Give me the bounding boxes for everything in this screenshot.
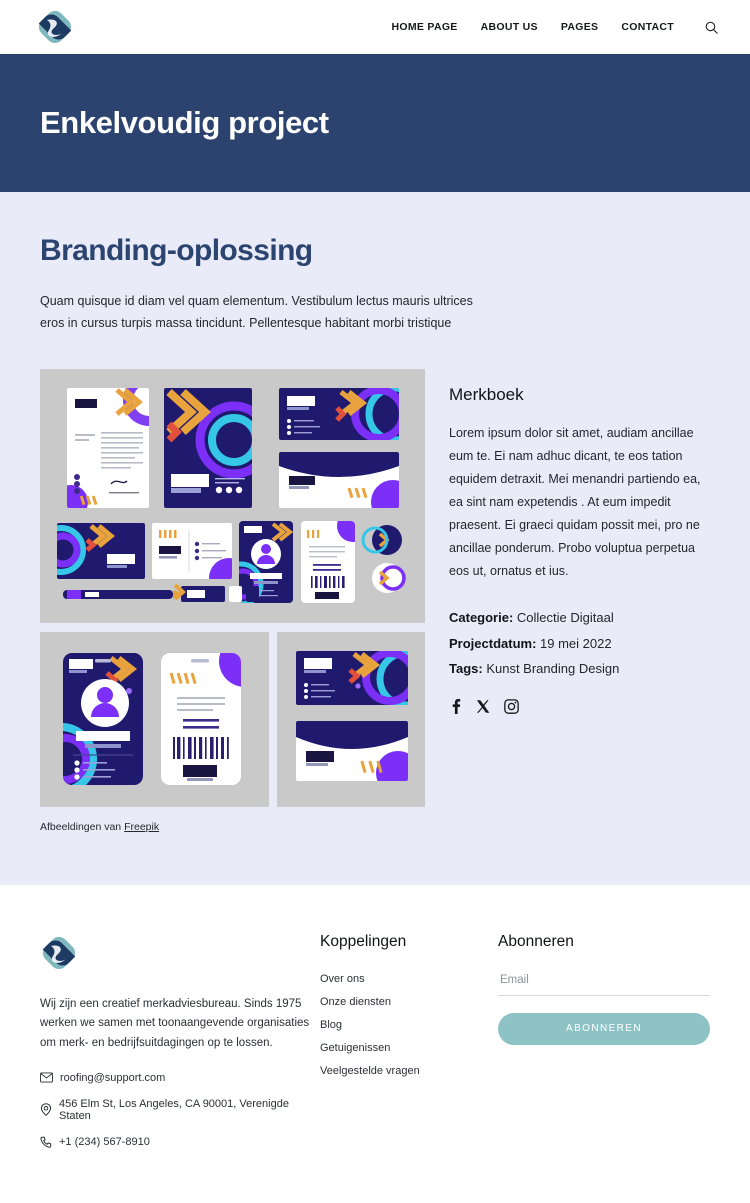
footer-links-heading: Koppelingen xyxy=(320,933,488,951)
footer-subscribe-heading: Abonneren xyxy=(498,933,710,951)
caption-text: Afbeeldingen van xyxy=(40,821,124,833)
business-card-envelope-mockup-image xyxy=(286,641,416,798)
gallery-main-frame[interactable] xyxy=(40,369,425,623)
hero-banner: Enkelvoudig project xyxy=(0,54,750,192)
x-twitter-icon xyxy=(476,699,491,714)
footer-link-over-ons[interactable]: Over ons xyxy=(320,968,488,991)
project-details: Merkboek Lorem ipsum dolor sit amet, aud… xyxy=(449,369,710,715)
meta-tags-value: Kunst Branding Design xyxy=(483,661,620,676)
footer-logo-link[interactable] xyxy=(40,933,310,973)
footer-address-row: 456 Elm St, Los Angeles, CA 90001, Veren… xyxy=(40,1098,310,1122)
gallery-caption: Afbeeldingen van Freepik xyxy=(40,821,425,833)
facebook-icon xyxy=(449,698,463,714)
project-gallery: Afbeeldingen van Freepik xyxy=(40,369,425,833)
meta-category: Categorie: Collectie Digitaal xyxy=(449,605,710,630)
footer-links-column: Koppelingen Over ons Onze diensten Blog … xyxy=(320,933,488,1163)
search-button[interactable] xyxy=(702,18,720,36)
meta-tags-label: Tags: xyxy=(449,661,483,676)
footer-phone: +1 (234) 567-8910 xyxy=(59,1136,150,1148)
footer-link-onze-diensten[interactable]: Onze diensten xyxy=(320,991,488,1014)
footer-address: 456 Elm St, Los Angeles, CA 90001, Veren… xyxy=(59,1098,310,1122)
footer-phone-row[interactable]: +1 (234) 567-8910 xyxy=(40,1136,310,1149)
nav-item-pages[interactable]: PAGES xyxy=(561,21,598,33)
facebook-share-button[interactable] xyxy=(449,698,463,714)
footer-subscribe-column: Abonneren ABONNEREN xyxy=(498,933,710,1163)
page-title: Enkelvoudig project xyxy=(40,105,329,141)
freepik-link[interactable]: Freepik xyxy=(124,821,159,833)
footer-description: Wij zijn een creatief merkadviesbureau. … xyxy=(40,995,310,1054)
meta-projectdate: Projectdatum: 19 mei 2022 xyxy=(449,631,710,656)
instagram-share-button[interactable] xyxy=(504,699,519,714)
project-body: Afbeeldingen van Freepik Merkboek Lorem … xyxy=(40,369,710,833)
footer-link-veelgestelde-vragen[interactable]: Veelgestelde vragen xyxy=(320,1060,488,1083)
main-content: Branding-oplossing Quam quisque id diam … xyxy=(0,192,750,885)
meta-tags: Tags: Kunst Branding Design xyxy=(449,656,710,681)
mail-icon xyxy=(40,1072,53,1083)
nav-item-home-page[interactable]: HOME PAGE xyxy=(392,21,458,33)
meta-category-label: Categorie: xyxy=(449,610,513,625)
footer-link-blog[interactable]: Blog xyxy=(320,1014,488,1037)
project-intro: Quam quisque id diam vel quam elementum.… xyxy=(40,290,480,335)
subscribe-button[interactable]: ABONNEREN xyxy=(498,1013,710,1045)
id-badge-mockup-image xyxy=(49,641,260,798)
nav-item-contact[interactable]: CONTACT xyxy=(621,21,674,33)
stationery-mockup-image xyxy=(49,378,416,614)
social-share-list xyxy=(449,698,710,714)
gallery-thumb-badges[interactable] xyxy=(40,632,269,807)
instagram-icon xyxy=(504,699,519,714)
search-icon xyxy=(705,21,718,34)
project-title: Branding-oplossing xyxy=(40,234,710,268)
location-pin-icon xyxy=(40,1103,52,1116)
gallery-secondary-row xyxy=(40,632,425,807)
nav-item-about-us[interactable]: ABOUT US xyxy=(481,21,538,33)
details-heading: Merkboek xyxy=(449,385,710,405)
meta-projectdate-value: 19 mei 2022 xyxy=(536,636,611,651)
phone-icon xyxy=(40,1136,52,1149)
meta-category-value: Collectie Digitaal xyxy=(513,610,613,625)
site-logo[interactable] xyxy=(36,7,74,47)
footer-email-row[interactable]: roofing@support.com xyxy=(40,1072,310,1084)
gallery-thumb-card-envelope[interactable] xyxy=(277,632,425,807)
site-header: HOME PAGE ABOUT US PAGES CONTACT xyxy=(0,0,750,54)
footer-about: Wij zijn een creatief merkadviesbureau. … xyxy=(40,933,310,1163)
footer-email: roofing@support.com xyxy=(60,1072,165,1084)
footer-link-getuigenissen[interactable]: Getuigenissen xyxy=(320,1037,488,1060)
brand-diamond-logo-icon xyxy=(40,933,78,973)
x-share-button[interactable] xyxy=(476,699,491,714)
email-input[interactable] xyxy=(498,968,710,996)
brand-diamond-logo-icon xyxy=(36,7,74,47)
meta-projectdate-label: Projectdatum: xyxy=(449,636,536,651)
primary-nav: HOME PAGE ABOUT US PAGES CONTACT xyxy=(392,18,720,36)
details-body: Lorem ipsum dolor sit amet, audiam ancil… xyxy=(449,422,710,584)
site-footer: Wij zijn een creatief merkadviesbureau. … xyxy=(0,885,750,1203)
